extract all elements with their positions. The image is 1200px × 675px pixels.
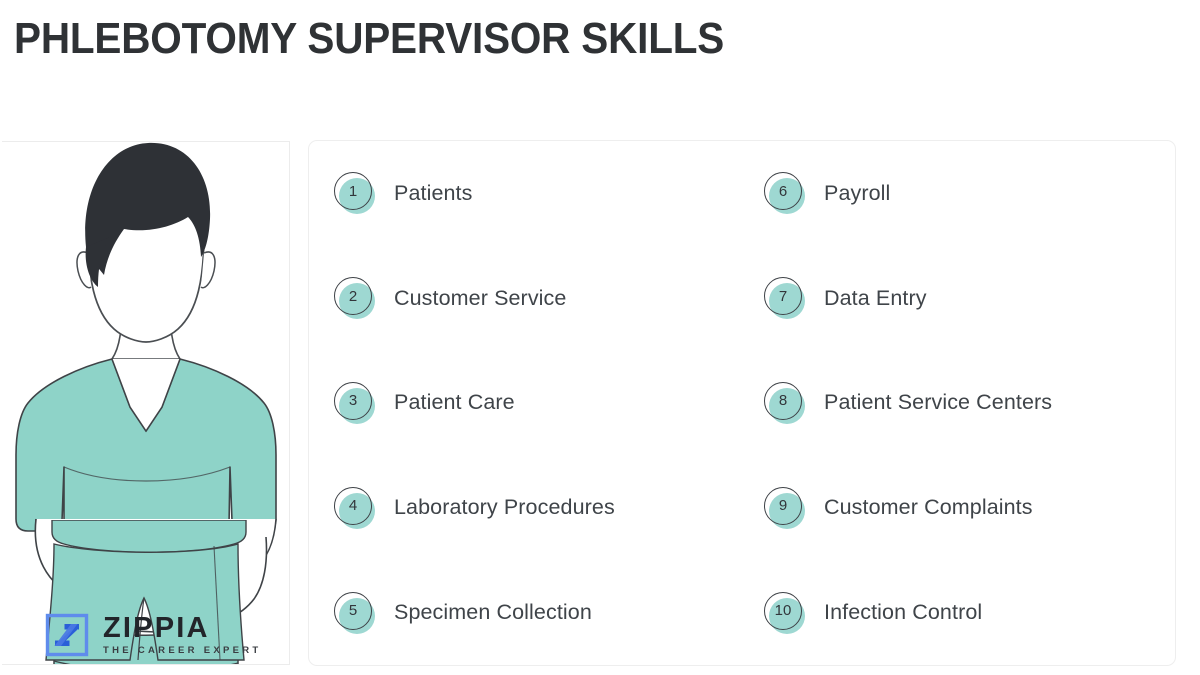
- skill-item-4[interactable]: 4 Laboratory Procedures: [309, 487, 736, 529]
- skills-card: 1 Patients 2 Customer Service 3 Patient …: [308, 140, 1176, 666]
- skill-number-7: 7: [764, 277, 802, 315]
- skill-label-8: Patient Service Centers: [824, 390, 1052, 415]
- skill-number-badge-8: 8: [764, 382, 806, 424]
- zippia-tagline: THE CAREER EXPERT: [103, 644, 262, 657]
- skill-number-2: 2: [334, 277, 372, 315]
- skill-number-4: 4: [334, 487, 372, 525]
- zippia-logo[interactable]: ZIPPIA THE CAREER EXPERT: [44, 612, 262, 658]
- skill-number-5: 5: [334, 592, 372, 630]
- skill-number-6: 6: [764, 172, 802, 210]
- skill-item-10[interactable]: 10 Infection Control: [736, 592, 1175, 634]
- skill-label-5: Specimen Collection: [394, 600, 592, 625]
- skill-number-3: 3: [334, 382, 372, 420]
- skill-label-4: Laboratory Procedures: [394, 495, 615, 520]
- skill-item-9[interactable]: 9 Customer Complaints: [736, 487, 1175, 529]
- skill-item-2[interactable]: 2 Customer Service: [309, 277, 736, 319]
- skill-label-6: Payroll: [824, 181, 890, 206]
- skill-label-2: Customer Service: [394, 286, 566, 311]
- skill-number-badge-2: 2: [334, 277, 376, 319]
- skill-number-badge-6: 6: [764, 172, 806, 214]
- zippia-wordmark: ZIPPIA: [103, 613, 262, 643]
- skill-item-1[interactable]: 1 Patients: [309, 172, 736, 214]
- skill-number-badge-3: 3: [334, 382, 376, 424]
- skill-number-badge-10: 10: [764, 592, 806, 634]
- skill-number-10: 10: [764, 592, 802, 630]
- skill-number-1: 1: [334, 172, 372, 210]
- skill-item-3[interactable]: 3 Patient Care: [309, 382, 736, 424]
- skill-number-badge-7: 7: [764, 277, 806, 319]
- skill-label-3: Patient Care: [394, 390, 515, 415]
- skill-label-1: Patients: [394, 181, 473, 206]
- skill-number-badge-1: 1: [334, 172, 376, 214]
- skill-label-10: Infection Control: [824, 600, 982, 625]
- skill-number-badge-9: 9: [764, 487, 806, 529]
- skill-item-6[interactable]: 6 Payroll: [736, 172, 1175, 214]
- skill-number-9: 9: [764, 487, 802, 525]
- zippia-z-mark-icon: [44, 612, 90, 658]
- skill-item-8[interactable]: 8 Patient Service Centers: [736, 382, 1175, 424]
- skill-label-9: Customer Complaints: [824, 495, 1033, 520]
- skill-item-5[interactable]: 5 Specimen Collection: [309, 592, 736, 634]
- skill-number-8: 8: [764, 382, 802, 420]
- skill-item-7[interactable]: 7 Data Entry: [736, 277, 1175, 319]
- page-title: PHLEBOTOMY SUPERVISOR SKILLS: [14, 12, 724, 66]
- skills-grid: 1 Patients 2 Customer Service 3 Patient …: [309, 141, 1175, 665]
- skill-number-badge-5: 5: [334, 592, 376, 634]
- skill-label-7: Data Entry: [824, 286, 927, 311]
- skill-number-badge-4: 4: [334, 487, 376, 529]
